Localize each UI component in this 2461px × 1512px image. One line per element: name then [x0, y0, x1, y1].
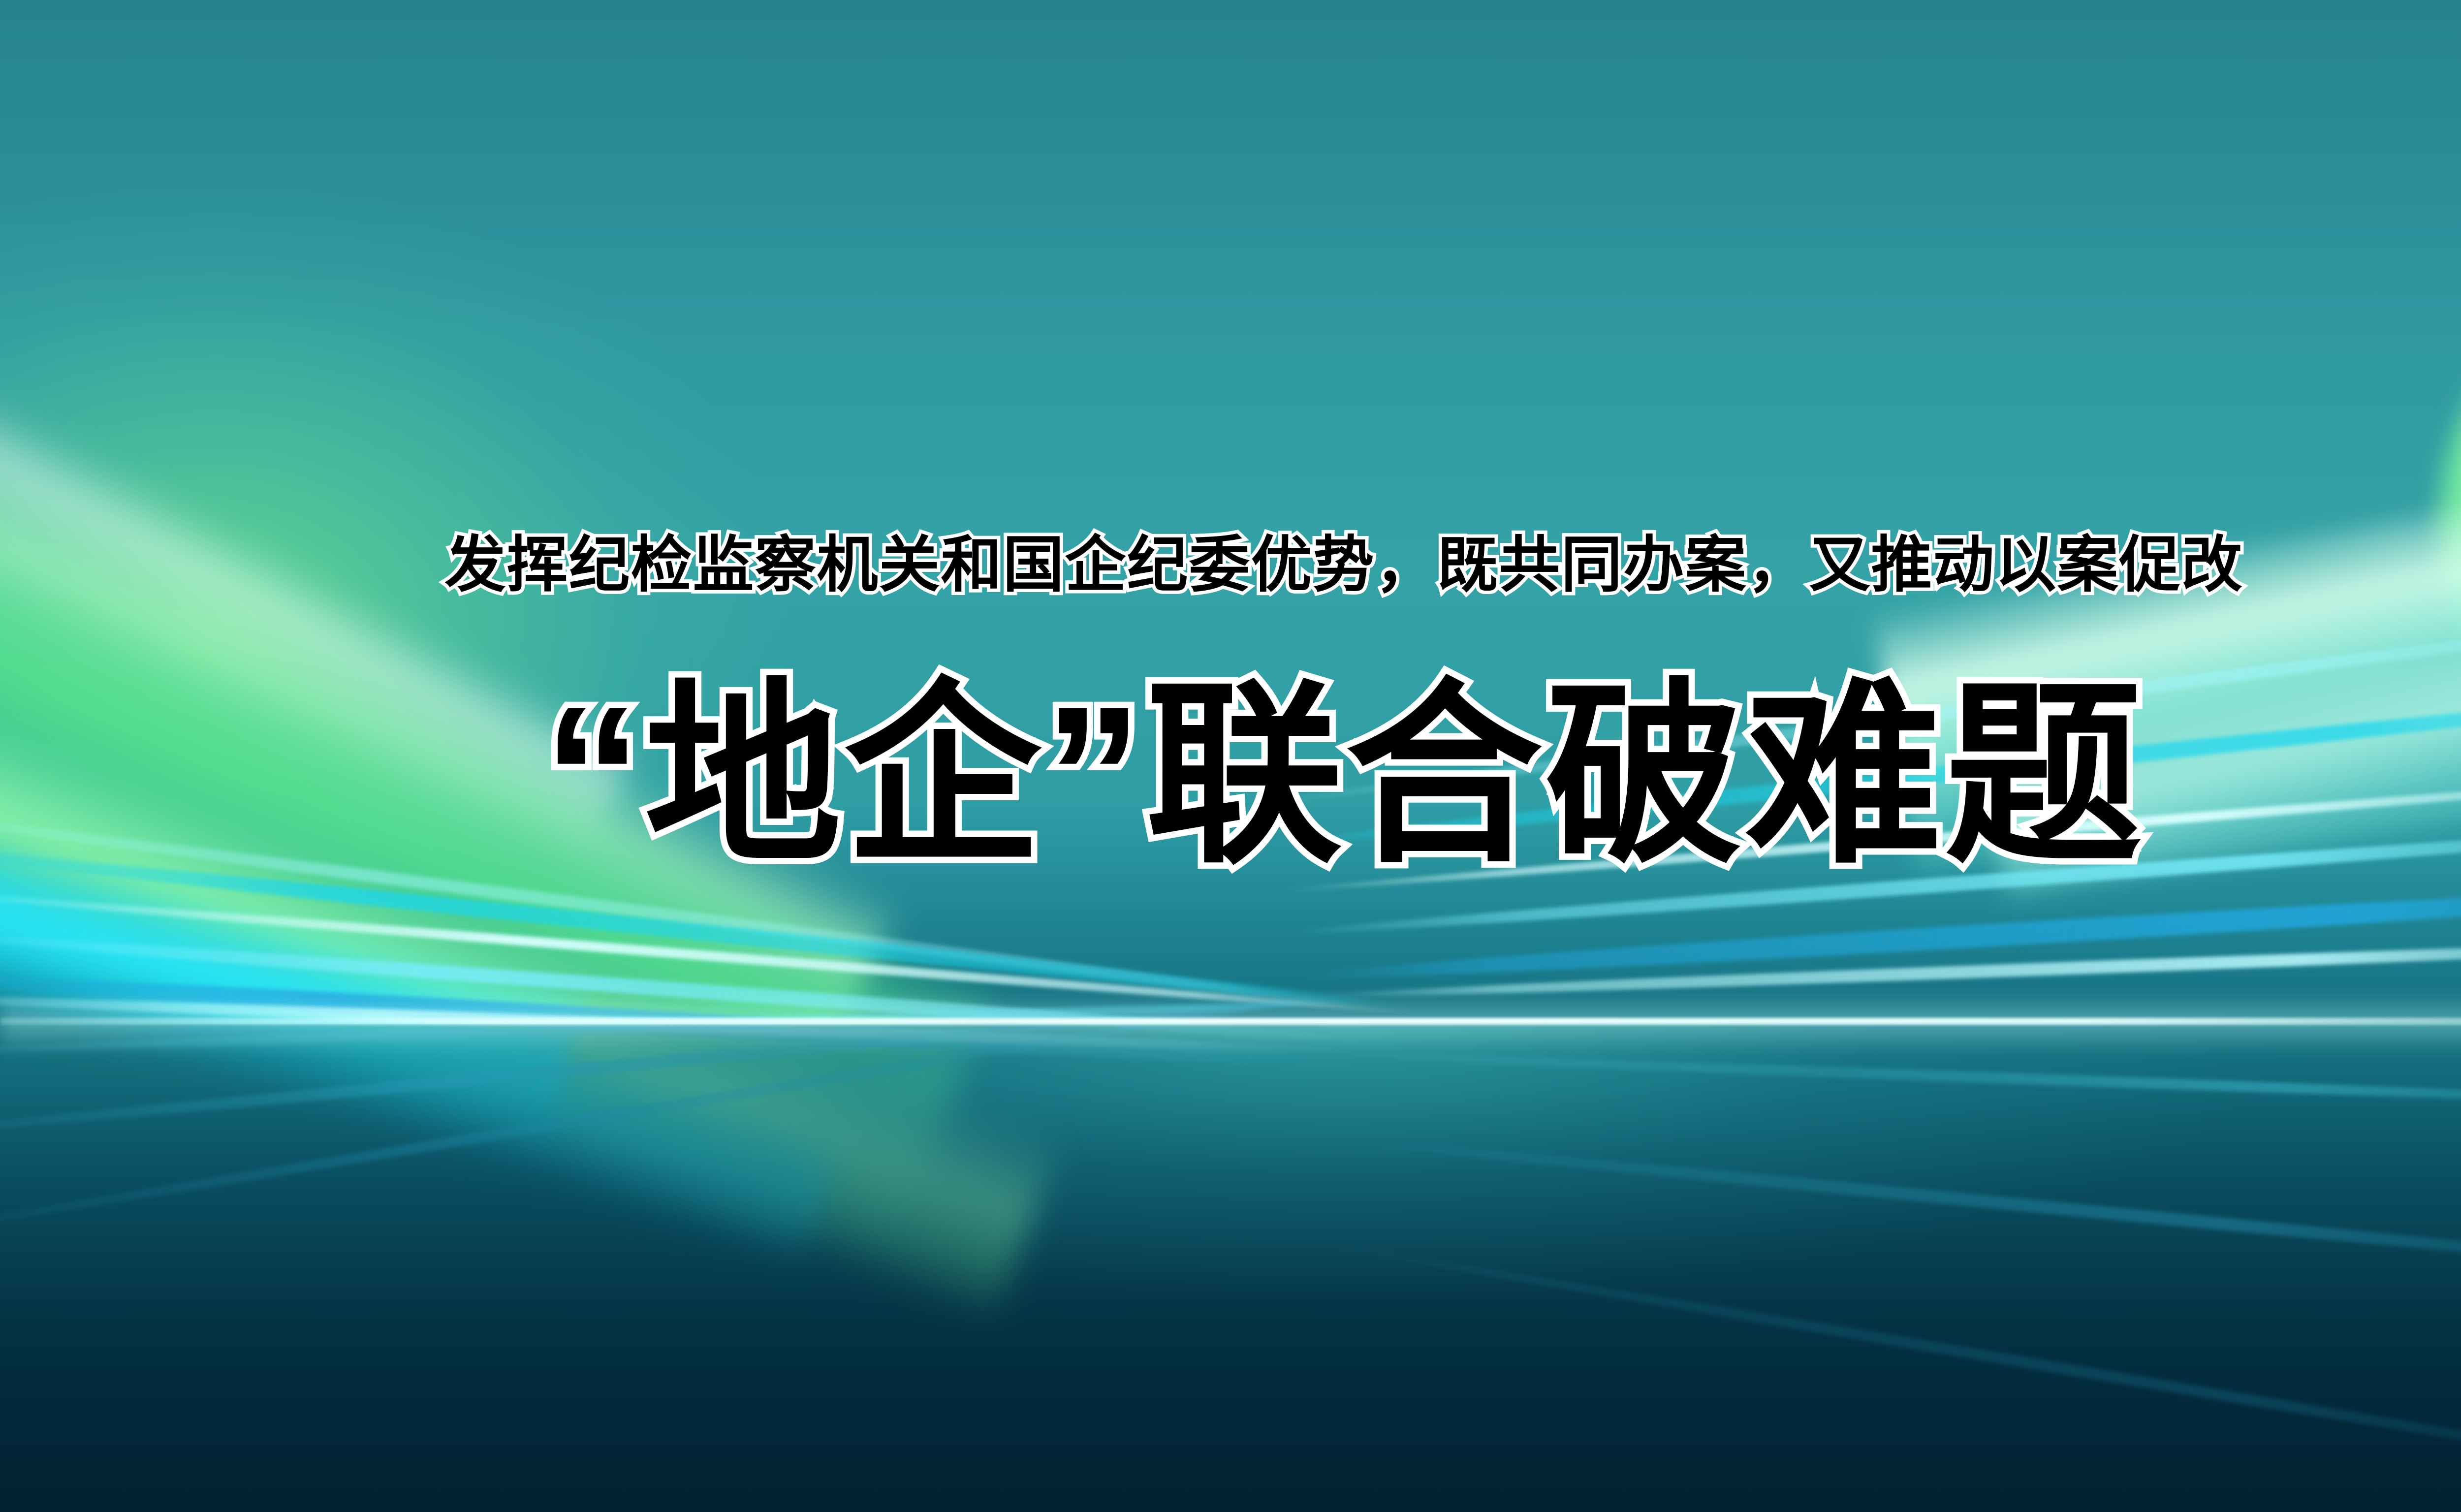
banner-subtitle: 发挥纪检监察机关和国企纪委优势，既共同办案，又推动以案促改	[444, 535, 2243, 596]
subtitle-container: 发挥纪检监察机关和国企纪委优势，既共同办案，又推动以案促改	[0, 535, 2461, 596]
banner-title: “地企”联合破难题	[543, 665, 2145, 886]
horizon-line	[0, 1018, 2461, 1025]
title-container: “地企”联合破难题	[0, 665, 2461, 886]
banner-image: 发挥纪检监察机关和国企纪委优势，既共同办案，又推动以案促改 “地企”联合破难题	[0, 0, 2461, 1512]
water-reflection-pool	[0, 1024, 2461, 1512]
